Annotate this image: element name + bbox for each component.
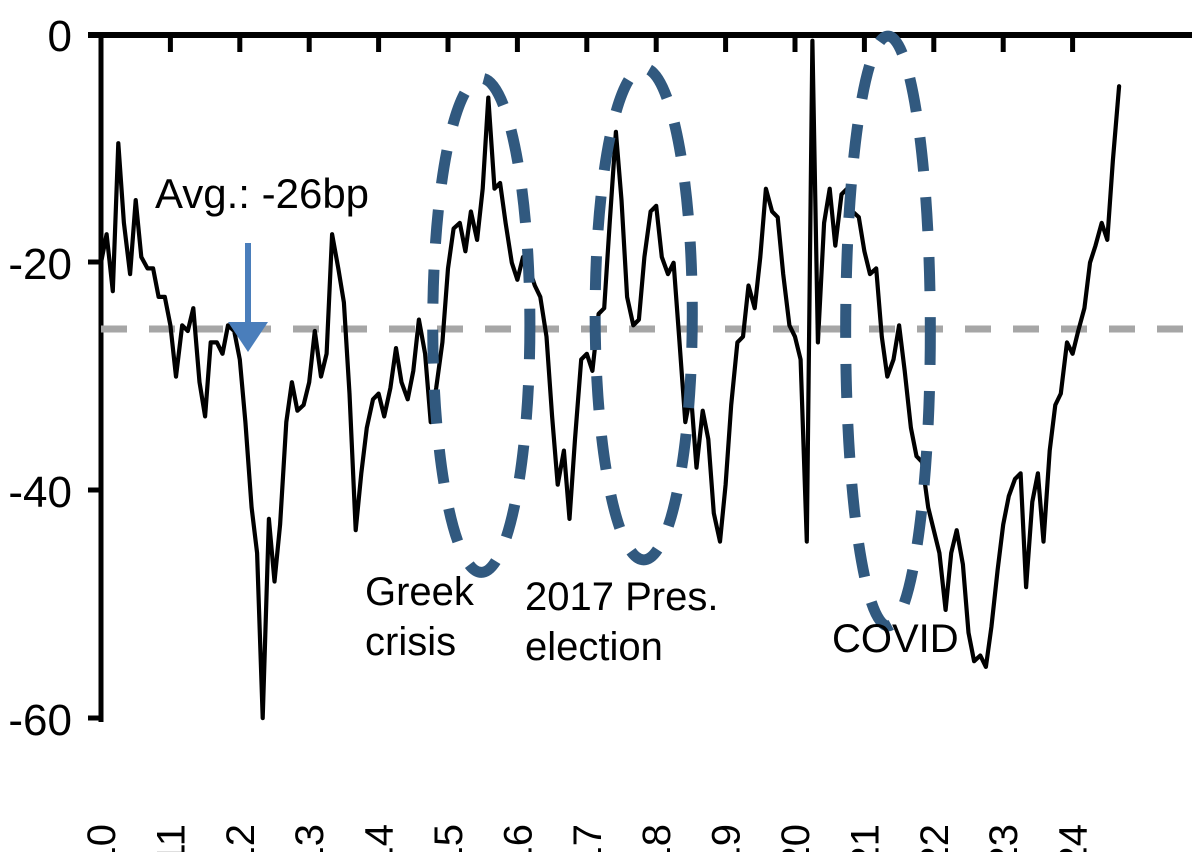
- x-axis-labels: 2010201120122013201420152016201720182019…: [80, 824, 1096, 852]
- line-chart: 0 -20 -40 -60 Avg.: -26bp: [0, 0, 1200, 852]
- y-axis-labels: 0 -20 -40 -60: [8, 12, 72, 745]
- x-tick-label-2012: 2012: [219, 824, 263, 852]
- x-tick-label-2016: 2016: [496, 824, 540, 852]
- y-tick-label-1: -20: [8, 240, 72, 289]
- annotation-pres-election-line2: election: [525, 625, 663, 669]
- x-tick-label-2011: 2011: [149, 824, 193, 852]
- x-tick-label-2023: 2023: [982, 824, 1026, 852]
- annotation-covid-line1: COVID: [832, 617, 959, 661]
- x-tick-label-2013: 2013: [288, 824, 332, 852]
- y-tick-label-2: -40: [8, 468, 72, 517]
- x-tick-label-2018: 2018: [635, 824, 679, 852]
- annotation-pres-election-line1: 2017 Pres.: [525, 575, 718, 619]
- x-tick-label-2019: 2019: [705, 824, 749, 852]
- annotation-labels: Greek crisis 2017 Pres. election COVID: [365, 570, 959, 669]
- highlight-ellipse-greek-crisis: [433, 78, 530, 572]
- x-tick-label-2022: 2022: [913, 824, 957, 852]
- annotation-greek-crisis-line2: crisis: [365, 620, 456, 664]
- x-tick-label-2015: 2015: [427, 824, 471, 852]
- x-tick-label-2014: 2014: [358, 824, 402, 852]
- x-tick-label-2024: 2024: [1052, 824, 1096, 852]
- average-label: Avg.: -26bp: [155, 170, 369, 217]
- annotation-greek-crisis-line1: Greek: [365, 570, 475, 614]
- x-tick-label-2020: 2020: [774, 824, 818, 852]
- x-tick-label-2010: 2010: [80, 824, 124, 852]
- x-tick-label-2017: 2017: [566, 824, 610, 852]
- y-tick-label-0: 0: [48, 12, 72, 61]
- y-tick-label-3: -60: [8, 696, 72, 745]
- chart-container: 0 -20 -40 -60 Avg.: -26bp: [0, 0, 1200, 852]
- x-tick-label-2021: 2021: [843, 824, 887, 852]
